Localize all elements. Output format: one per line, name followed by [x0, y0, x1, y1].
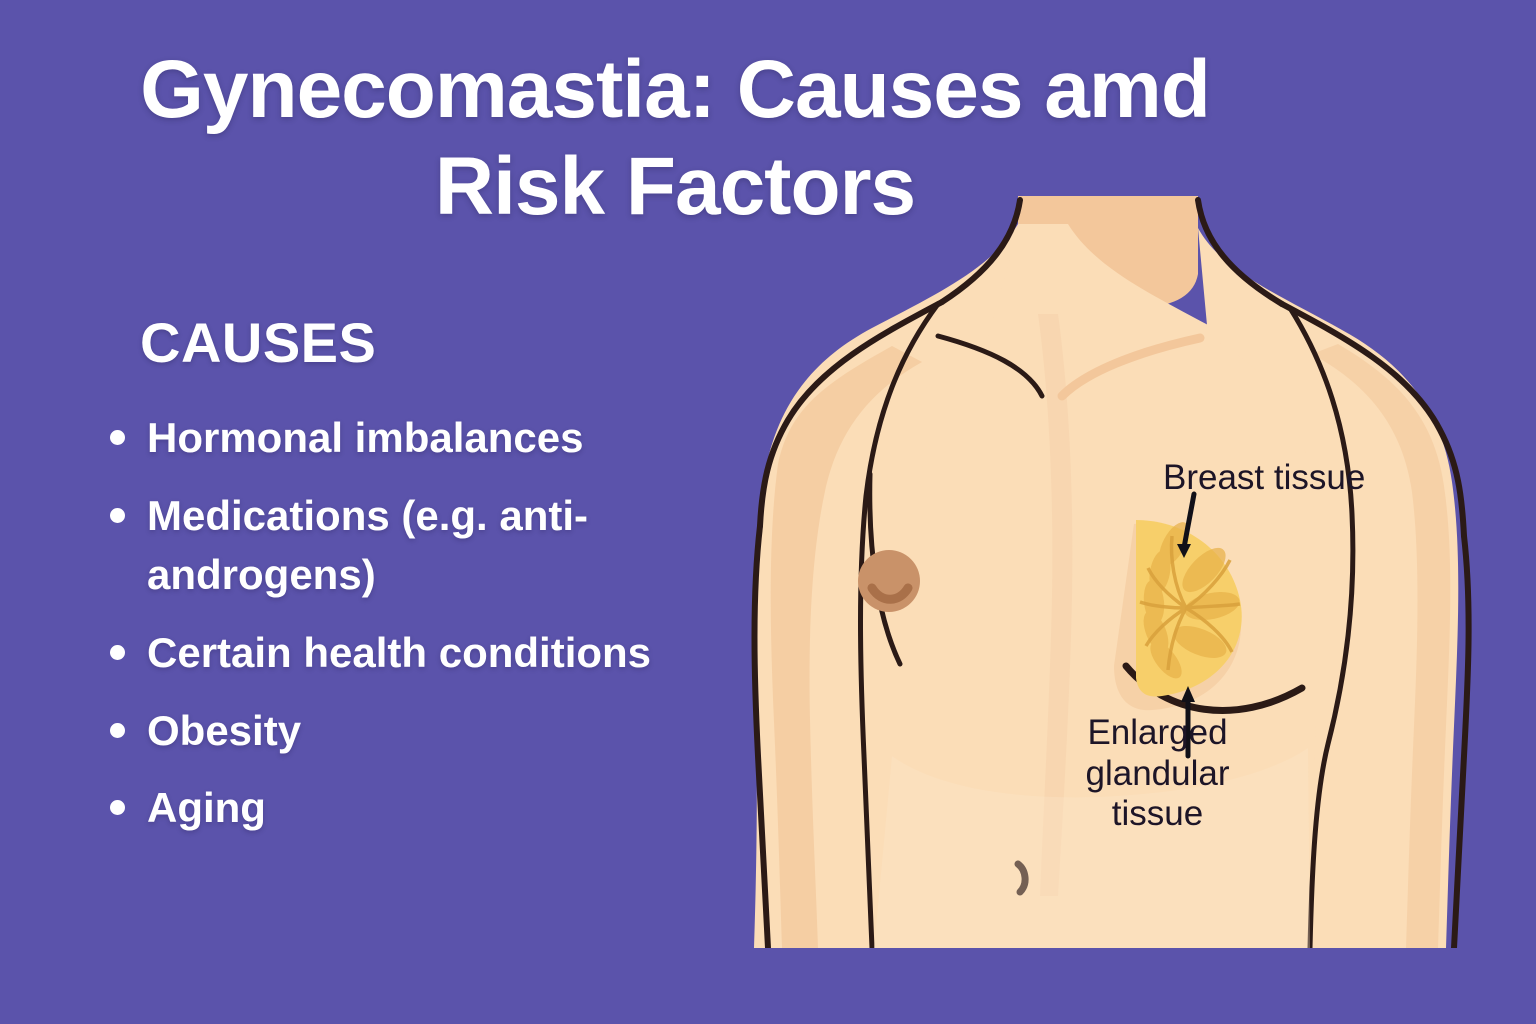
- torso-illustration: [742, 196, 1536, 948]
- list-item-label: Obesity: [147, 707, 301, 754]
- annotation-breast-tissue: Breast tissue: [1163, 458, 1365, 499]
- annotation-enlarged-glandular-tissue: Enlarged glandular tissue: [1070, 713, 1245, 835]
- list-item-label: Medications (e.g. anti-androgens): [147, 492, 588, 599]
- infographic-canvas: Gynecomastia: Causes amd Risk Factors CA…: [0, 0, 1536, 1024]
- list-item: Hormonal imbalances: [92, 408, 752, 468]
- causes-heading: CAUSES: [140, 310, 376, 375]
- list-item-label: Hormonal imbalances: [147, 414, 583, 461]
- bullet-icon: [110, 430, 125, 445]
- list-item: Aging: [92, 778, 752, 838]
- list-item-label: Certain health conditions: [147, 629, 651, 676]
- list-item-label: Aging: [147, 784, 266, 831]
- causes-list: Hormonal imbalances Medications (e.g. an…: [92, 408, 752, 856]
- bullet-icon: [110, 508, 125, 523]
- bullet-icon: [110, 800, 125, 815]
- list-item: Certain health conditions: [92, 623, 752, 683]
- bullet-icon: [110, 723, 125, 738]
- list-item: Obesity: [92, 701, 752, 761]
- bullet-icon: [110, 645, 125, 660]
- list-item: Medications (e.g. anti-androgens): [92, 486, 752, 605]
